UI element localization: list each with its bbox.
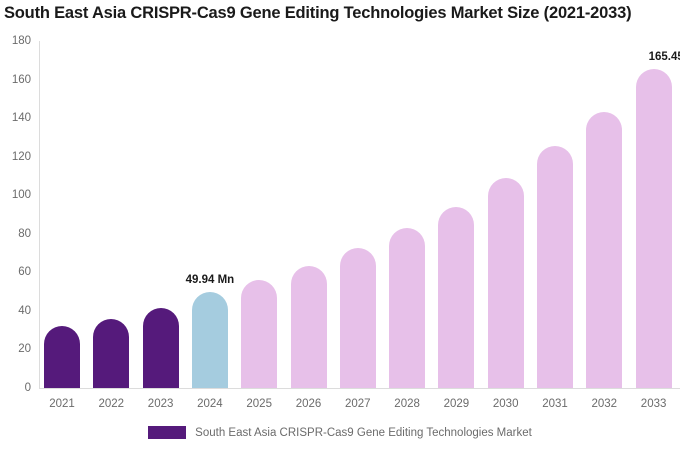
x-axis-tick: 2026 bbox=[296, 398, 322, 410]
legend-label: South East Asia CRISPR-Cas9 Gene Editing… bbox=[195, 427, 532, 439]
bar-group: 2027 bbox=[340, 41, 376, 388]
bar[interactable] bbox=[340, 248, 376, 388]
bar[interactable]: 49.94 Mn bbox=[192, 292, 228, 388]
x-axis-tick: 2024 bbox=[197, 398, 223, 410]
bar-value-label: 165.45 Mn bbox=[649, 51, 680, 63]
y-axis-tick: 120 bbox=[12, 151, 31, 163]
x-axis-tick: 2021 bbox=[49, 398, 75, 410]
bar[interactable] bbox=[488, 178, 524, 388]
y-axis-tick: 20 bbox=[18, 343, 31, 355]
bar-group: 2031 bbox=[537, 41, 573, 388]
x-axis-tick: 2028 bbox=[394, 398, 420, 410]
bar-group: 2032 bbox=[586, 41, 622, 388]
x-axis-tick: 2025 bbox=[246, 398, 272, 410]
bar[interactable] bbox=[143, 308, 179, 388]
bar-group: 2022 bbox=[93, 41, 129, 388]
bar-group: 2029 bbox=[438, 41, 474, 388]
x-axis-tick: 2023 bbox=[148, 398, 174, 410]
bar[interactable] bbox=[586, 112, 622, 388]
y-axis-tick: 160 bbox=[12, 74, 31, 86]
bar-group: 49.94 Mn2024 bbox=[192, 41, 228, 388]
x-axis-line bbox=[39, 388, 680, 389]
bar[interactable] bbox=[93, 319, 129, 388]
bar[interactable] bbox=[291, 266, 327, 388]
bar[interactable] bbox=[537, 146, 573, 388]
x-axis-tick: 2029 bbox=[444, 398, 470, 410]
bar-group: 2025 bbox=[241, 41, 277, 388]
x-axis-tick: 2030 bbox=[493, 398, 519, 410]
chart-legend: South East Asia CRISPR-Cas9 Gene Editing… bbox=[0, 426, 680, 439]
bar[interactable]: 165.45 Mn bbox=[636, 69, 672, 388]
x-axis-tick: 2022 bbox=[99, 398, 125, 410]
x-axis-tick: 2033 bbox=[641, 398, 667, 410]
bar[interactable] bbox=[389, 228, 425, 388]
bar-group: 2026 bbox=[291, 41, 327, 388]
chart-title: South East Asia CRISPR-Cas9 Gene Editing… bbox=[4, 4, 680, 23]
y-axis-tick: 80 bbox=[18, 228, 31, 240]
bar[interactable] bbox=[438, 207, 474, 388]
bar-group: 2021 bbox=[44, 41, 80, 388]
bar-group: 2023 bbox=[143, 41, 179, 388]
y-axis-tick: 0 bbox=[25, 382, 31, 394]
plot-area: 18016014012010080604020020212022202349.9… bbox=[40, 41, 680, 388]
bar-value-label: 49.94 Mn bbox=[186, 274, 235, 286]
bar-group: 2028 bbox=[389, 41, 425, 388]
y-axis-tick: 60 bbox=[18, 266, 31, 278]
y-axis-tick: 40 bbox=[18, 305, 31, 317]
bar[interactable] bbox=[44, 326, 80, 388]
x-axis-tick: 2027 bbox=[345, 398, 371, 410]
x-axis-tick: 2031 bbox=[542, 398, 568, 410]
bar-chart: South East Asia CRISPR-Cas9 Gene Editing… bbox=[0, 0, 680, 450]
y-axis-tick: 140 bbox=[12, 112, 31, 124]
bar[interactable] bbox=[241, 280, 277, 388]
y-axis-tick: 180 bbox=[12, 35, 31, 47]
bar-group: 2030 bbox=[488, 41, 524, 388]
x-axis-tick: 2032 bbox=[592, 398, 618, 410]
bar-group: 165.45 Mn2033 bbox=[636, 41, 672, 388]
legend-swatch bbox=[148, 426, 186, 439]
y-axis-tick: 100 bbox=[12, 189, 31, 201]
